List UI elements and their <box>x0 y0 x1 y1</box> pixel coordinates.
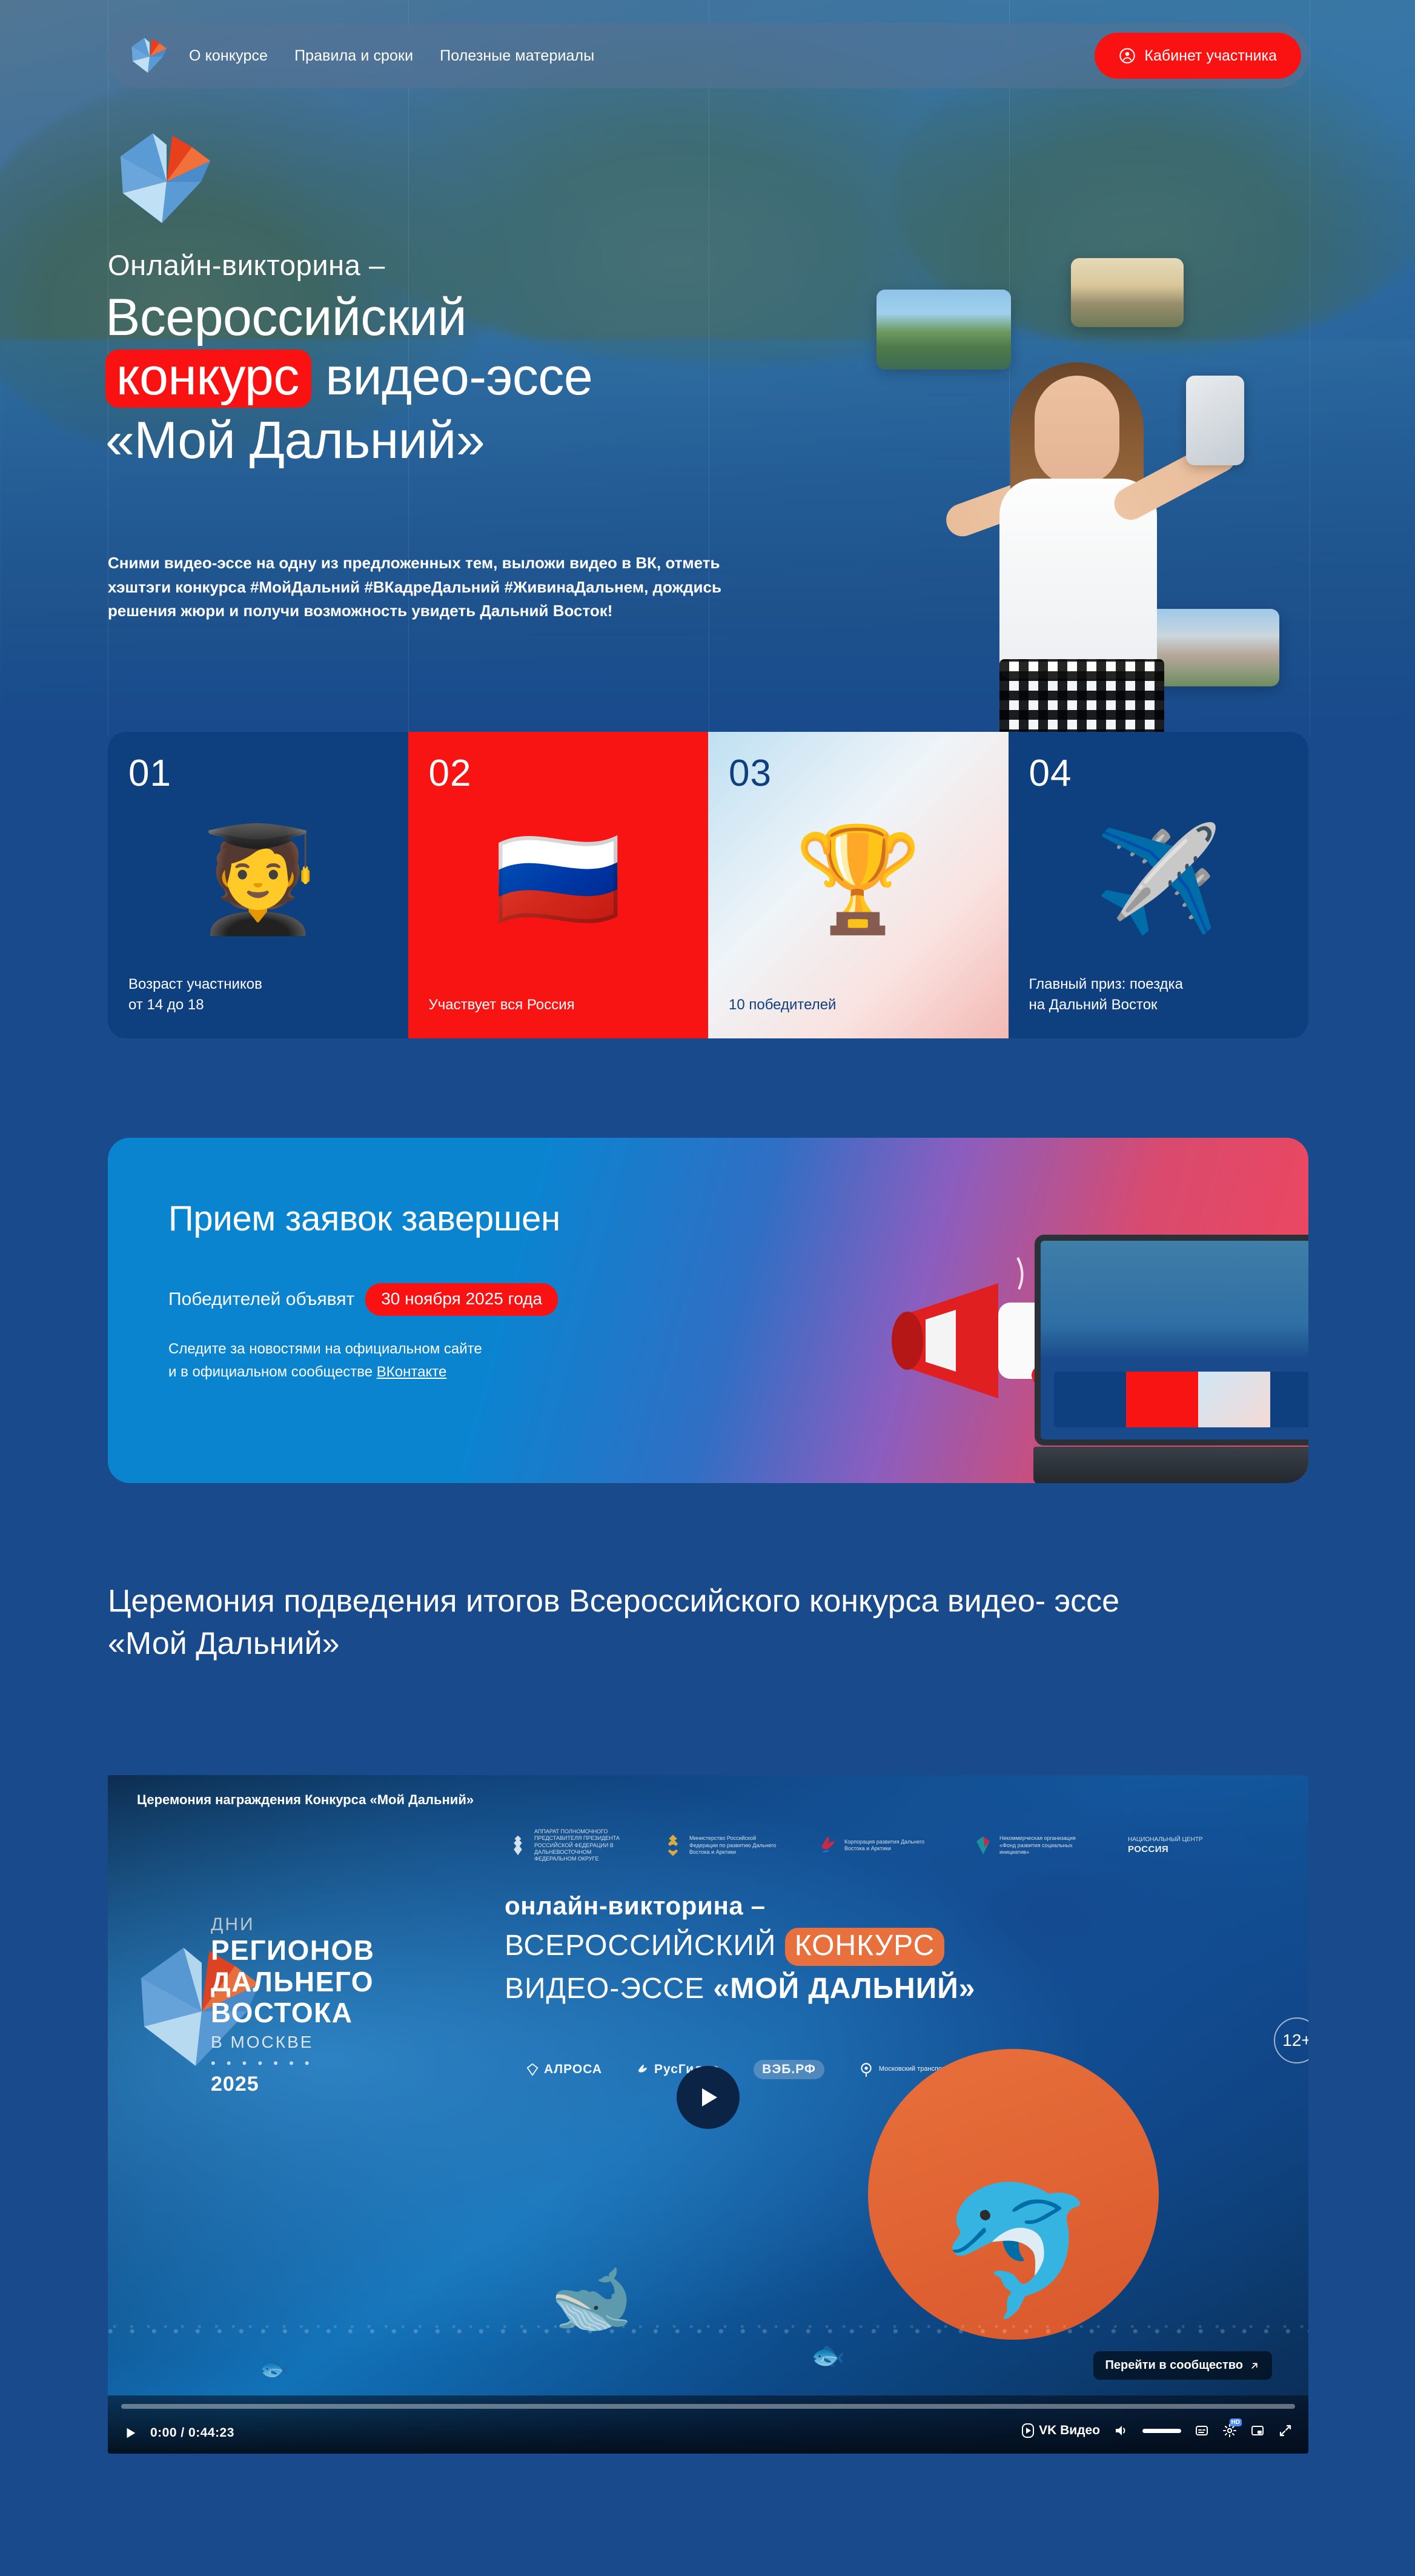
veb-rf-logo-icon: ВЭБ.РФ <box>754 2060 824 2079</box>
hero-photo-bridge <box>1071 258 1184 327</box>
vk-video-label[interactable]: VK Видео <box>1022 2423 1100 2438</box>
sponsors-row: АЛРОСА РусГидро ВЭБ.РФ Московский трансп… <box>526 2060 949 2079</box>
nc-small: НАЦИОНАЛЬНЫЙ ЦЕНТР <box>1128 1836 1203 1844</box>
vk-video-text: VK Видео <box>1039 2423 1100 2438</box>
video-headline-l3-bold: «МОЙ ДАЛЬНИЙ» <box>714 1973 976 2005</box>
vk-community-link[interactable]: ВКонтакте <box>377 1364 447 1380</box>
card-caption: Главный приз: поездка на Дальний Восток <box>1029 974 1288 1015</box>
gem-logo-icon[interactable] <box>126 33 173 78</box>
org-corporation: Корпорация развития Дальнего Востока и А… <box>818 1834 935 1857</box>
subtitles-icon[interactable] <box>1195 2423 1209 2438</box>
feature-cards: 01 🧑‍🎓 Возраст участников от 14 до 18 02… <box>108 732 1308 1038</box>
video-brand-block: ДНИ РЕГИОНОВ ДАЛЬНЕГО ВОСТОКА В МОСКВЕ •… <box>211 1914 502 2096</box>
banner-heading: Прием заявок завершен <box>168 1198 560 1239</box>
sponsor-label: АЛРОСА <box>544 2062 602 2077</box>
play-icon <box>696 2084 720 2111</box>
arrow-up-right-icon <box>1249 2360 1260 2371</box>
landing-page: О конкурсе Правила и сроки Полезные мате… <box>0 0 1415 2576</box>
banner-subline: Победителей объявят 30 ноября 2025 года <box>168 1283 558 1316</box>
ceremony-heading: Церемония подведения итогов Всероссийско… <box>108 1580 1138 1665</box>
cabinet-button[interactable]: Кабинет участника <box>1095 33 1301 79</box>
play-icon[interactable] <box>124 2426 137 2440</box>
laptop-mockup-icon <box>998 1235 1308 1483</box>
hero-title-line2-rest: видео-эссе <box>325 348 592 406</box>
video-timecode: 0:00 / 0:44:23 <box>150 2426 234 2440</box>
org-ministry: Министерство Российской Федерации по раз… <box>663 1834 780 1857</box>
controls-right: VK Видео <box>1022 2423 1293 2438</box>
hero-title-line1: Всероссийский <box>105 288 466 347</box>
applications-closed-banner: Прием заявок завершен Победителей объявя… <box>108 1138 1308 1483</box>
brand-year: 2025 <box>211 2073 502 2096</box>
banner-note-line1: Следите за новостями на официальном сайт… <box>168 1338 482 1361</box>
dolphins-illustration: 🐬 <box>889 2114 1144 2314</box>
vk-video-icon <box>1022 2423 1034 2438</box>
card-caption: Участвует вся Россия <box>429 995 688 1015</box>
top-navbar: О конкурсе Правила и сроки Полезные мате… <box>108 23 1310 88</box>
org-label: Некоммерческая организация «Фонд развити… <box>999 1835 1090 1856</box>
banner-note-line2: и в официальном сообществе <box>168 1364 377 1380</box>
brand-line-dni: ДНИ <box>211 1914 502 1935</box>
brand-dots: • • • • • • • <box>211 2056 502 2071</box>
hero-title-line3: «Мой Дальний» <box>105 411 485 470</box>
feature-card-04[interactable]: 04 ✈️ Главный приз: поездка на Дальний В… <box>1009 732 1309 1038</box>
video-overlay-title: Церемония награждения Конкурса «Мой Даль… <box>137 1792 474 1808</box>
video-player[interactable]: Церемония награждения Конкурса «Мой Даль… <box>108 1775 1308 2454</box>
russian-flag-icon: 🇷🇺 <box>408 779 709 980</box>
card-caption: 10 победителей <box>729 995 988 1015</box>
alrosa-logo-icon: АЛРОСА <box>526 2062 602 2077</box>
banner-sub-label: Победителей объявят <box>168 1289 354 1310</box>
fond-icon <box>973 1834 993 1857</box>
feature-card-02[interactable]: 02 🇷🇺 Участвует вся Россия <box>408 732 709 1038</box>
cabinet-button-label: Кабинет участника <box>1144 47 1277 65</box>
hero-kicker: Онлайн-викторина – <box>108 248 385 282</box>
feature-card-01[interactable]: 01 🧑‍🎓 Возраст участников от 14 до 18 <box>108 732 408 1038</box>
video-headline-l2-pre: ВСЕРОССИЙСКИЙ <box>505 1930 785 1962</box>
settings-gear-icon[interactable]: HD <box>1222 2423 1237 2438</box>
nav-link-rules[interactable]: Правила и сроки <box>294 47 413 65</box>
brand-line-vostoka: ВОСТОКА <box>211 1997 502 2029</box>
kraski-icon <box>818 1834 838 1857</box>
student-thinking-icon: 🧑‍🎓 <box>108 779 408 980</box>
brand-line-moscow: В МОСКВЕ <box>211 2033 502 2052</box>
trophy-icon: 🏆 <box>708 779 1009 980</box>
volume-icon[interactable] <box>1113 2423 1129 2438</box>
play-overlay-button[interactable] <box>677 2066 740 2129</box>
nc-big: РОССИЯ <box>1128 1844 1203 1854</box>
gem-logo-icon <box>109 119 224 240</box>
nav-links: О конкурсе Правила и сроки Полезные мате… <box>189 47 594 65</box>
airplane-icon: ✈️ <box>1009 779 1309 980</box>
video-headline-l3-pre: ВИДЕО-ЭССЕ <box>505 1973 714 2005</box>
ministry-crest-icon <box>663 1834 683 1857</box>
sponsor-label: ВЭБ.РФ <box>762 2062 816 2077</box>
hero-title-highlight: конкурс <box>105 350 311 408</box>
video-headline-l1: онлайн-викторина – <box>505 1891 1219 1920</box>
go-to-community-button[interactable]: Перейти в сообщество <box>1093 2351 1272 2380</box>
picture-in-picture-icon[interactable] <box>1250 2423 1265 2438</box>
controls-left: 0:00 / 0:44:23 <box>124 2426 234 2440</box>
org-label: АППАРАТ ПОЛНОМОЧНОГО ПРЕДСТАВИТЕЛЯ ПРЕЗИ… <box>534 1828 625 1862</box>
org-national-center: НАЦИОНАЛЬНЫЙ ЦЕНТР РОССИЯ <box>1128 1836 1203 1854</box>
organizations-row: АППАРАТ ПОЛНОМОЧНОГО ПРЕДСТАВИТЕЛЯ ПРЕЗИ… <box>508 1828 1203 1862</box>
video-controls-bar: 0:00 / 0:44:23 VK Видео <box>108 2395 1308 2454</box>
video-headline-highlight: КОНКУРС <box>785 1928 945 1966</box>
org-label: Корпорация развития Дальнего Востока и А… <box>844 1839 935 1853</box>
fullscreen-icon[interactable] <box>1278 2423 1293 2438</box>
announcement-date-badge: 30 ноября 2025 года <box>365 1283 558 1316</box>
video-headline: онлайн-викторина – ВСЕРОССИЙСКИЙ КОНКУРС… <box>505 1891 1219 2005</box>
card-caption: Возраст участников от 14 до 18 <box>128 974 388 1015</box>
video-progress-bar[interactable] <box>121 2404 1295 2409</box>
quality-badge: HD <box>1230 2418 1242 2426</box>
community-button-label: Перейти в сообщество <box>1105 2359 1243 2372</box>
nav-link-about[interactable]: О конкурсе <box>189 47 268 65</box>
user-circle-icon <box>1119 47 1136 64</box>
hero-description: Сними видео-эссе на одну из предложенных… <box>108 551 726 623</box>
org-fond: Некоммерческая организация «Фонд развити… <box>973 1834 1090 1857</box>
volume-slider[interactable] <box>1142 2429 1181 2433</box>
org-polpred: АППАРАТ ПОЛНОМОЧНОГО ПРЕДСТАВИТЕЛЯ ПРЕЗИ… <box>508 1828 625 1862</box>
org-label: Министерство Российской Федерации по раз… <box>689 1835 780 1856</box>
banner-note: Следите за новостями на официальном сайт… <box>168 1338 482 1384</box>
brand-line-regions: РЕГИОНОВ <box>211 1935 502 1967</box>
feature-card-03[interactable]: 03 🏆 10 победителей <box>708 732 1009 1038</box>
nav-link-materials[interactable]: Полезные материалы <box>440 47 594 65</box>
hero-phone-mockup <box>1186 376 1244 465</box>
brand-line-dalnego: ДАЛЬНЕГО <box>211 1967 502 1998</box>
double-eagle-icon <box>508 1834 528 1857</box>
hero-title: Всероссийский конкурс видео-эссе «Мой Да… <box>105 290 953 468</box>
